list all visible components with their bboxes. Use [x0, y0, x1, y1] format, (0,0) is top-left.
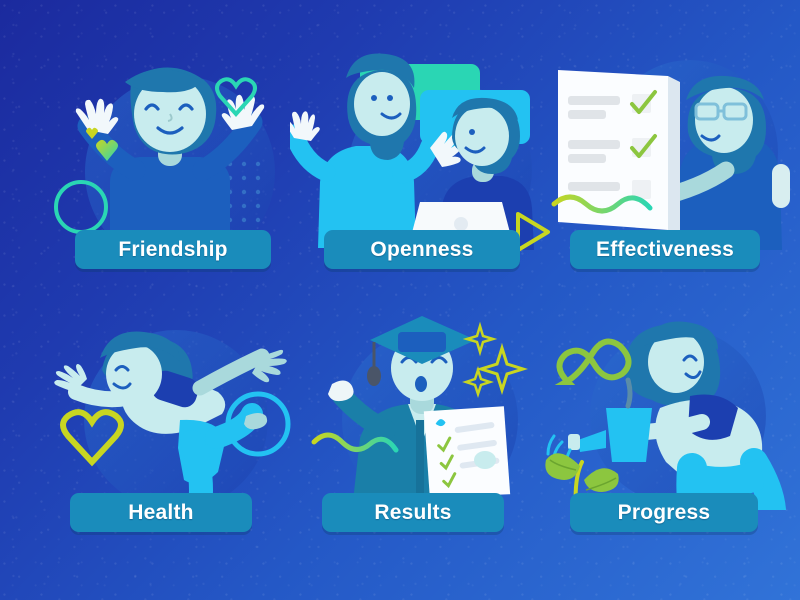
card-label-progress: Progress — [618, 501, 711, 525]
progress-illustration — [540, 312, 800, 510]
open-mouth — [415, 376, 427, 392]
card-progress[interactable] — [540, 312, 800, 510]
card-label-openness: Openness — [370, 238, 473, 262]
board-edge — [668, 76, 680, 236]
health-illustration — [40, 312, 310, 510]
watering-can-nozzle — [568, 434, 580, 450]
card-openness[interactable] — [290, 52, 560, 252]
card-label-results: Results — [374, 501, 451, 525]
label-pill-openness[interactable]: Openness — [324, 230, 520, 269]
man-eye — [469, 129, 475, 135]
fist-icon — [328, 380, 354, 401]
label-pill-effectiveness[interactable]: Effectiveness — [570, 230, 760, 269]
arm — [646, 422, 702, 432]
card-effectiveness[interactable] — [540, 52, 800, 252]
face — [106, 344, 162, 404]
card-label-friendship: Friendship — [118, 238, 227, 262]
values-board: Friendship — [0, 0, 800, 600]
cap-band — [398, 332, 446, 352]
laptop-logo — [454, 217, 468, 231]
man-face — [455, 106, 509, 166]
holding-hand — [474, 451, 496, 469]
label-pill-progress[interactable]: Progress — [570, 493, 758, 532]
card-friendship[interactable] — [40, 52, 310, 252]
results-illustration — [290, 312, 560, 510]
certificate — [418, 400, 516, 505]
label-pill-health[interactable]: Health — [70, 493, 252, 532]
card-label-health: Health — [128, 501, 193, 525]
card-health[interactable] — [40, 312, 310, 510]
watering-can-handle — [628, 380, 630, 406]
woman-left-hand — [290, 111, 320, 141]
woman-face — [354, 72, 410, 136]
label-pill-friendship[interactable]: Friendship — [75, 230, 271, 269]
woman-eye — [387, 95, 393, 101]
openness-illustration — [290, 52, 560, 252]
friendship-illustration — [40, 52, 310, 252]
label-pill-results[interactable]: Results — [322, 493, 504, 532]
effectiveness-illustration — [540, 52, 800, 252]
card-label-effectiveness: Effectiveness — [596, 238, 734, 262]
tassel — [367, 366, 381, 386]
card-results[interactable] — [290, 312, 560, 510]
person-right-sleeve — [772, 164, 790, 208]
woman-eye-2 — [371, 95, 377, 101]
